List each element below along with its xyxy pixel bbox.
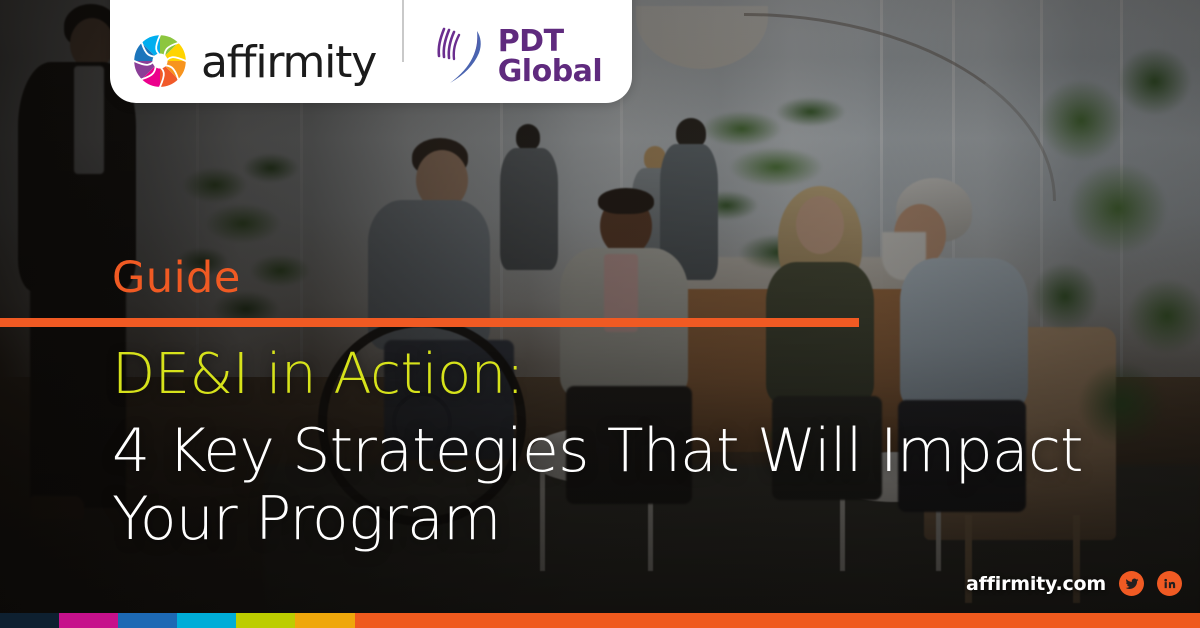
brand-color-bar bbox=[0, 613, 1200, 628]
footer-bar: affirmity.com bbox=[966, 571, 1182, 596]
brand-logo-card: affirmity PDT Global bbox=[110, 0, 632, 103]
headline-line-1: 4 Key Strategies That Will Impact bbox=[112, 421, 1083, 481]
pdt-global-logo-lockup[interactable]: PDT Global bbox=[430, 25, 632, 89]
twitter-icon[interactable] bbox=[1119, 571, 1144, 596]
affirmity-wordmark: affirmity bbox=[201, 41, 376, 85]
linkedin-icon[interactable] bbox=[1157, 571, 1182, 596]
headline-accent-line: DE&I in Action: bbox=[112, 347, 1083, 403]
aperture-pinwheel-icon bbox=[132, 33, 188, 89]
website-url[interactable]: affirmity.com bbox=[966, 573, 1106, 595]
headline-line-2: Your Program bbox=[112, 489, 1083, 549]
color-bar-segment-amber bbox=[295, 613, 355, 628]
marketing-banner: affirmity PDT Global Guide DE&I in Actio… bbox=[0, 0, 1200, 628]
pdt-global-wordmark: PDT Global bbox=[498, 27, 632, 87]
color-bar-segment-blue bbox=[118, 613, 177, 628]
color-bar-segment-orange bbox=[355, 613, 1200, 628]
color-bar-segment-magenta bbox=[59, 613, 118, 628]
affirmity-logo-lockup[interactable]: affirmity bbox=[110, 33, 376, 89]
flame-swoosh-icon bbox=[430, 25, 490, 89]
color-bar-segment-lime bbox=[236, 613, 295, 628]
color-bar-segment-cyan bbox=[177, 613, 236, 628]
color-bar-segment-navy bbox=[0, 613, 59, 628]
orange-divider-rule bbox=[0, 318, 859, 327]
eyebrow-label: Guide bbox=[112, 257, 241, 300]
vertical-divider bbox=[402, 0, 404, 62]
headline-block: DE&I in Action: 4 Key Strategies That Wi… bbox=[112, 347, 1083, 549]
